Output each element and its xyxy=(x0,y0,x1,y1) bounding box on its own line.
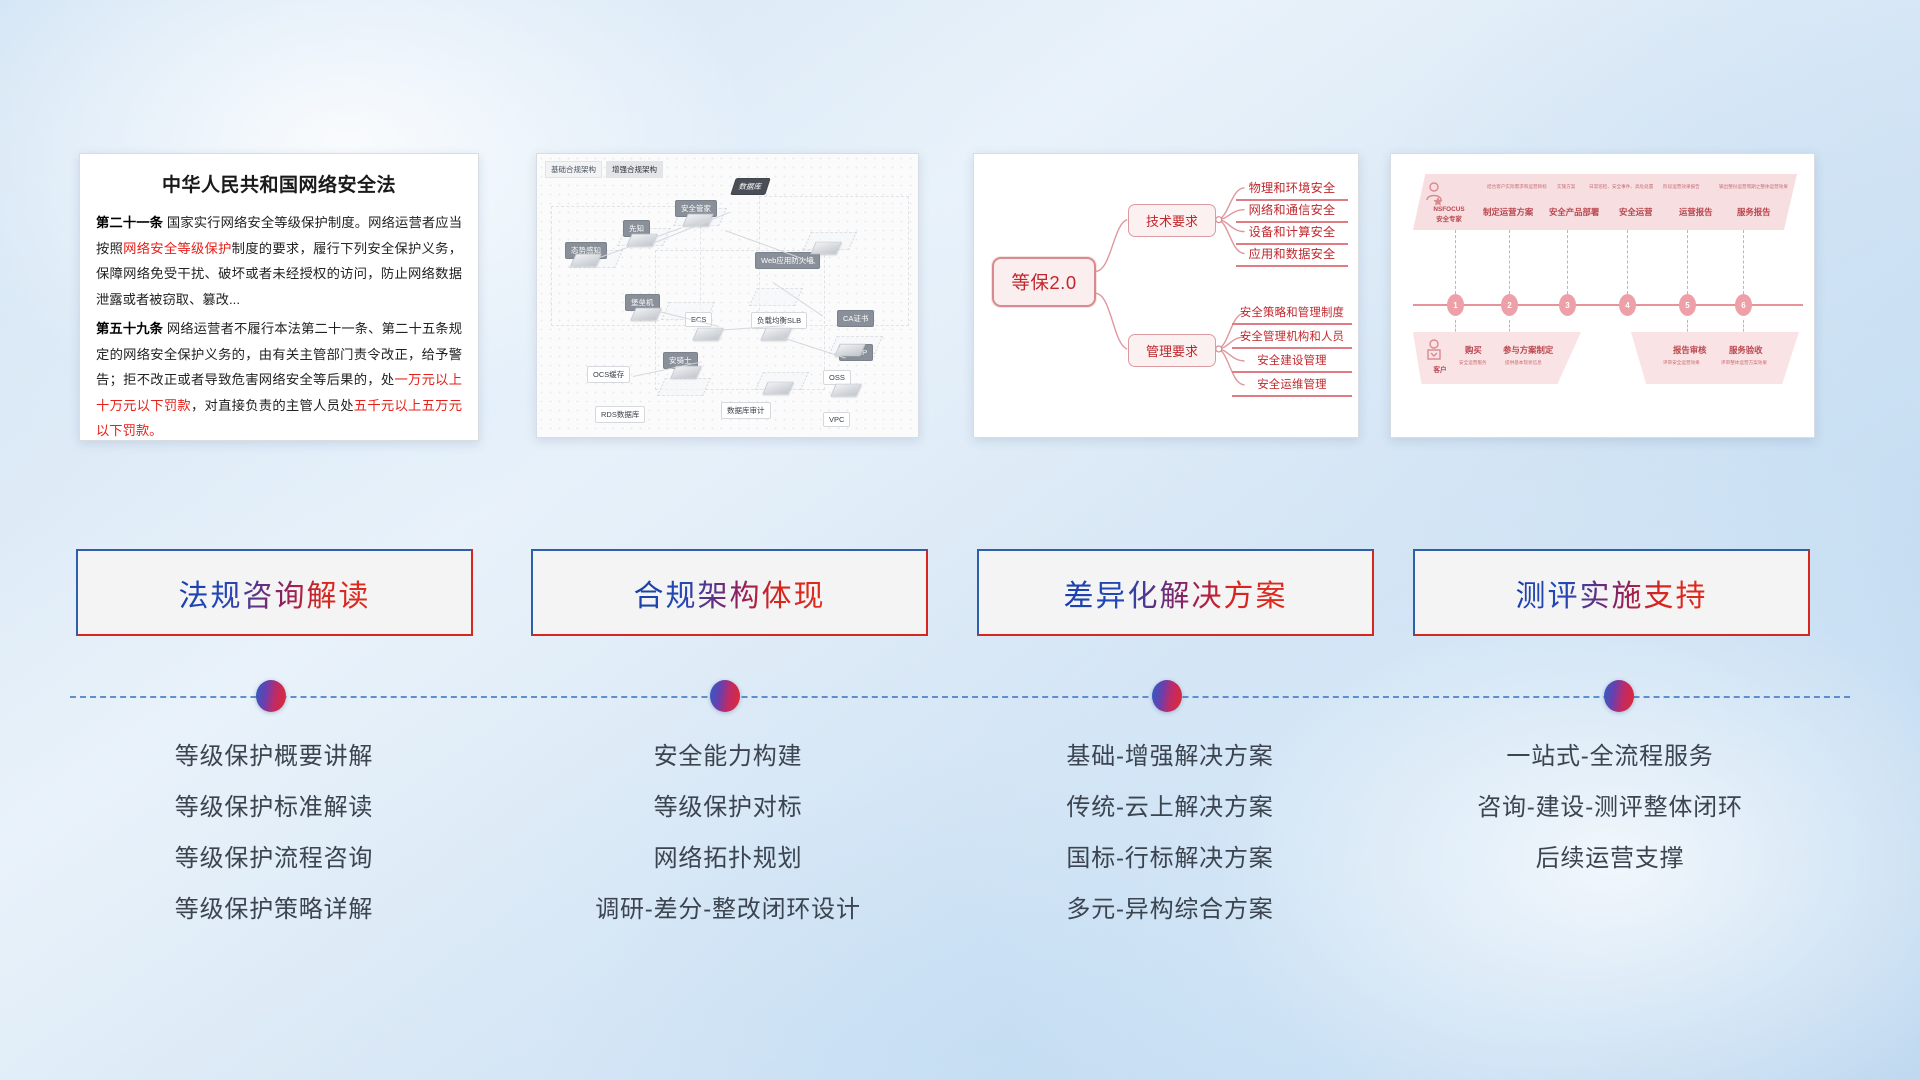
detail-list-regulation-consulting: 等级保护概要讲解 等级保护标准解读 等级保护流程咨询 等级保护策略详解 xyxy=(74,745,474,949)
timeline-marker-1[interactable] xyxy=(710,680,740,712)
list-item: 后续运营支撑 xyxy=(1410,847,1810,871)
section-header-label-0: 法规咨询解读 xyxy=(179,571,371,615)
section-header-label-3: 测评实施支持 xyxy=(1516,571,1708,615)
timeline-marker-2[interactable] xyxy=(1152,680,1182,712)
list-item: 国标-行标解决方案 xyxy=(970,847,1370,871)
timeline-marker-3[interactable] xyxy=(1604,680,1634,712)
detail-list-compliance-architecture: 安全能力构建 等级保护对标 网络拓扑规划 调研-差分-整改闭环设计 xyxy=(528,745,928,949)
timeline-dashed-line xyxy=(70,696,1850,698)
section-header-compliance-architecture[interactable]: 合规架构体现 xyxy=(531,549,928,636)
section-header-regulation-consulting[interactable]: 法规咨询解读 xyxy=(76,549,473,636)
list-item: 多元-异构综合方案 xyxy=(970,898,1370,922)
list-item: 一站式-全流程服务 xyxy=(1410,745,1810,769)
section-header-label-1: 合规架构体现 xyxy=(634,571,826,615)
list-item: 等级保护概要讲解 xyxy=(74,745,474,769)
list-item: 安全能力构建 xyxy=(528,745,928,769)
list-item: 网络拓扑规划 xyxy=(528,847,928,871)
section-header-label-2: 差异化解决方案 xyxy=(1064,571,1288,615)
detail-list-differentiated-solution: 基础-增强解决方案 传统-云上解决方案 国标-行标解决方案 多元-异构综合方案 xyxy=(970,745,1370,949)
list-item: 等级保护策略详解 xyxy=(74,898,474,922)
section-header-differentiated-solution[interactable]: 差异化解决方案 xyxy=(977,549,1374,636)
list-item: 等级保护对标 xyxy=(528,796,928,820)
list-item: 基础-增强解决方案 xyxy=(970,745,1370,769)
detail-list-evaluation-support: 一站式-全流程服务 咨询-建设-测评整体闭环 后续运营支撑 xyxy=(1410,745,1810,898)
timeline-marker-0[interactable] xyxy=(256,680,286,712)
list-item: 调研-差分-整改闭环设计 xyxy=(528,898,928,922)
list-item: 等级保护标准解读 xyxy=(74,796,474,820)
list-item: 咨询-建设-测评整体闭环 xyxy=(1410,796,1810,820)
list-item: 传统-云上解决方案 xyxy=(970,796,1370,820)
list-item: 等级保护流程咨询 xyxy=(74,847,474,871)
section-header-evaluation-support[interactable]: 测评实施支持 xyxy=(1413,549,1810,636)
